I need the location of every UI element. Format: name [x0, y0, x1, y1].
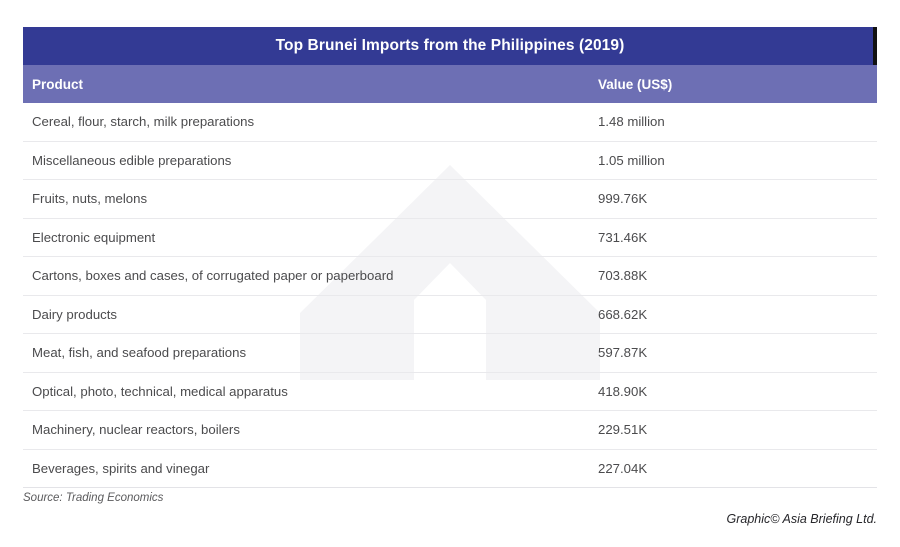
table-title-bar: Top Brunei Imports from the Philippines … — [23, 27, 877, 65]
credit-note: Graphic© Asia Briefing Ltd. — [727, 512, 877, 526]
page-title: Top Brunei Imports from the Philippines … — [276, 38, 625, 54]
cell-product: Dairy products — [23, 307, 598, 322]
table-row: Beverages, spirits and vinegar 227.04K — [23, 450, 877, 489]
column-header-product: Product — [23, 77, 598, 92]
cell-value: 1.48 million — [598, 114, 877, 129]
table-row: Cereal, flour, starch, milk preparations… — [23, 103, 877, 142]
cell-product: Optical, photo, technical, medical appar… — [23, 384, 598, 399]
cell-product: Miscellaneous edible preparations — [23, 153, 598, 168]
cell-value: 229.51K — [598, 422, 877, 437]
cell-value: 731.46K — [598, 230, 877, 245]
cell-product: Cartons, boxes and cases, of corrugated … — [23, 268, 598, 283]
cell-value: 1.05 million — [598, 153, 877, 168]
cell-value: 597.87K — [598, 345, 877, 360]
table-column-header-row: Product Value (US$) — [23, 65, 877, 103]
cell-value: 668.62K — [598, 307, 877, 322]
cell-product: Fruits, nuts, melons — [23, 191, 598, 206]
cell-product: Cereal, flour, starch, milk preparations — [23, 114, 598, 129]
table-row: Miscellaneous edible preparations 1.05 m… — [23, 142, 877, 181]
cell-product: Beverages, spirits and vinegar — [23, 461, 598, 476]
table-row: Optical, photo, technical, medical appar… — [23, 373, 877, 412]
source-note: Source: Trading Economics — [23, 492, 163, 504]
table-row: Cartons, boxes and cases, of corrugated … — [23, 257, 877, 296]
cell-value: 703.88K — [598, 268, 877, 283]
cell-product: Meat, fish, and seafood preparations — [23, 345, 598, 360]
cell-product: Electronic equipment — [23, 230, 598, 245]
table-row: Dairy products 668.62K — [23, 296, 877, 335]
imports-table: Top Brunei Imports from the Philippines … — [23, 27, 877, 488]
cell-value: 227.04K — [598, 461, 877, 476]
table-row: Electronic equipment 731.46K — [23, 219, 877, 258]
table-row: Machinery, nuclear reactors, boilers 229… — [23, 411, 877, 450]
table-row: Fruits, nuts, melons 999.76K — [23, 180, 877, 219]
table-body: Cereal, flour, starch, milk preparations… — [23, 103, 877, 488]
graphic-canvas: Top Brunei Imports from the Philippines … — [0, 0, 900, 547]
cell-product: Machinery, nuclear reactors, boilers — [23, 422, 598, 437]
table-row: Meat, fish, and seafood preparations 597… — [23, 334, 877, 373]
cell-value: 418.90K — [598, 384, 877, 399]
column-header-value: Value (US$) — [598, 77, 877, 92]
cell-value: 999.76K — [598, 191, 877, 206]
